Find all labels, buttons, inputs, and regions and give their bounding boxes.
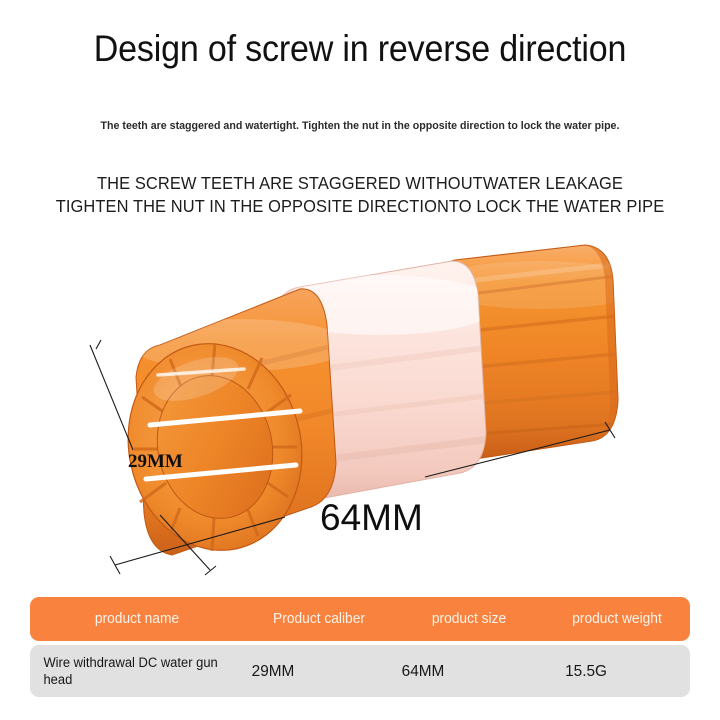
table-row: Wire withdrawal DC water gun head 29MM 6…: [30, 645, 690, 697]
dimension-length-tick-left: [110, 556, 120, 574]
dimension-diameter-line-upper: [90, 345, 133, 450]
cell-product-weight: 15.5G: [544, 663, 684, 680]
spec-table-header-row: product name Product caliber product siz…: [30, 597, 690, 641]
dimension-diameter-tick-bottom: [205, 566, 216, 575]
cell-product-name: Wire withdrawal DC water gun head: [30, 654, 235, 688]
dimension-diameter-tick-top: [96, 340, 101, 349]
spec-table: product name Product caliber product siz…: [30, 597, 690, 697]
dimension-length-label: 64MM: [320, 497, 423, 538]
header-product-name: product name: [35, 611, 238, 627]
product-detail-page: Design of screw in reverse direction The…: [0, 0, 720, 720]
page-title: Design of screw in reverse direction: [29, 26, 691, 72]
page-subtitle: The teeth are staggered and watertight. …: [18, 118, 702, 134]
header-product-caliber: Product caliber: [248, 611, 391, 627]
product-illustration: 29MM 64MM: [0, 225, 720, 595]
product-photo-svg: 29MM 64MM: [0, 225, 720, 595]
dimension-diameter-label: 29MM: [128, 451, 183, 472]
cell-product-caliber: 29MM: [244, 663, 388, 680]
header-product-weight: product weight: [548, 611, 687, 627]
feature-line-2: TIGHTEN THE NUT IN THE OPPOSITE DIRECTIO…: [22, 195, 699, 218]
feature-line-1: THE SCREW TEETH ARE STAGGERED WITHOUTWAT…: [22, 172, 699, 195]
cell-product-size: 64MM: [394, 663, 538, 680]
feature-description-block: THE SCREW TEETH ARE STAGGERED WITHOUTWAT…: [0, 172, 720, 218]
header-product-size: product size: [398, 611, 541, 627]
